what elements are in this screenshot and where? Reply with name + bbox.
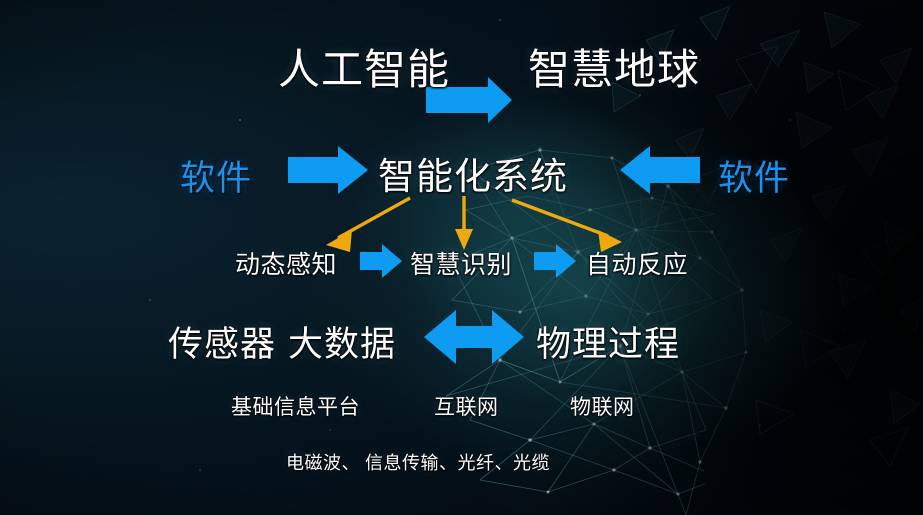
- label-smart-earth: 智慧地球: [528, 36, 700, 97]
- label-physical-process: 物理过程: [536, 316, 680, 367]
- label-smart-recognition: 智慧识别: [410, 245, 512, 281]
- label-artificial-intelligence: 人工智能: [278, 36, 450, 97]
- slide-canvas: 人工智能 智慧地球 软件 智能化系统 软件 动态感知 智慧识别 自动反应 传感器…: [0, 0, 923, 515]
- label-internet-of-things: 物联网: [570, 391, 635, 421]
- label-intelligent-system: 智能化系统: [378, 146, 568, 200]
- label-dynamic-sensing: 动态感知: [235, 245, 337, 281]
- label-software-left: 软件: [180, 150, 252, 201]
- text-layer: 人工智能 智慧地球 软件 智能化系统 软件 动态感知 智慧识别 自动反应 传感器…: [0, 0, 923, 515]
- label-big-data: 大数据: [288, 316, 396, 367]
- label-transmission-media: 电磁波、 信息传输、光纤、光缆: [286, 449, 550, 475]
- label-internet: 互联网: [434, 391, 499, 421]
- label-sensor: 传感器: [168, 316, 276, 367]
- label-automatic-response: 自动反应: [586, 245, 688, 281]
- label-software-right: 软件: [718, 150, 790, 201]
- label-basic-information-platform: 基础信息平台: [231, 391, 360, 421]
